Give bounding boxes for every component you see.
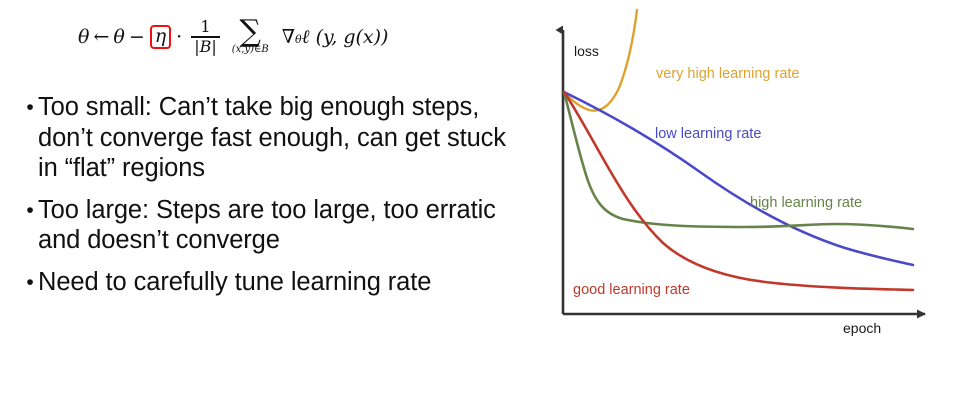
learning-rate-loss-curves-svg: loss epoch very high learning rate low l…: [545, 0, 972, 411]
series-label-low-learning-rate: low learning rate: [655, 126, 761, 142]
series-line-low-learning-rate: [564, 92, 913, 265]
bullet-text: Too large: Steps are too large, too erra…: [38, 195, 532, 256]
series-label-good-learning-rate: good learning rate: [573, 282, 690, 298]
series-label-high-learning-rate: high learning rate: [750, 195, 862, 211]
fraction-denominator: |B|: [191, 39, 220, 56]
x-axis-label: epoch: [843, 320, 881, 336]
learning-rate-chart: loss epoch very high learning rate low l…: [545, 0, 972, 411]
series-line-good-learning-rate: [564, 92, 913, 290]
bullet-list: • Too small: Can’t take big enough steps…: [22, 92, 532, 309]
formula-theta-lhs: θ: [78, 26, 89, 48]
formula-eta-highlighted: η: [150, 25, 171, 50]
formula-minus-sign: −: [129, 26, 145, 48]
y-axis-label: loss: [574, 43, 599, 59]
nabla-subscript: θ: [295, 33, 302, 46]
slide-root: θ ← θ − η · 1 |B| ∑ (x,y)∈B ∇θℓ (y, g(x)…: [0, 0, 972, 411]
nabla-icon: ∇: [282, 26, 295, 48]
bullet-text: Too small: Can’t take big enough steps, …: [38, 92, 532, 184]
list-item: • Too small: Can’t take big enough steps…: [22, 92, 532, 184]
bullet-marker-icon: •: [22, 268, 38, 298]
loss-symbol: ℓ: [302, 26, 310, 48]
fraction-numerator: 1: [197, 19, 213, 36]
loss-arguments: (y, g(x)): [316, 26, 389, 48]
formula-assign-arrow: ←: [93, 26, 109, 48]
left-content-column: θ ← θ − η · 1 |B| ∑ (x,y)∈B ∇θℓ (y, g(x)…: [0, 0, 545, 411]
bullet-marker-icon: •: [22, 93, 38, 123]
sigma-subscript: (x,y)∈B: [232, 45, 269, 55]
list-item: • Need to carefully tune learning rate: [22, 267, 532, 298]
formula-dot-operator: ·: [176, 26, 182, 48]
formula-theta-rhs: θ: [113, 26, 124, 48]
formula-gradient-term: ∇θℓ (y, g(x)): [282, 26, 389, 49]
formula-summation: ∑ (x,y)∈B: [232, 19, 269, 56]
sgd-update-formula: θ ← θ − η · 1 |B| ∑ (x,y)∈B ∇θℓ (y, g(x)…: [78, 10, 388, 64]
formula-batch-fraction: 1 |B|: [191, 19, 220, 56]
bullet-marker-icon: •: [22, 196, 38, 226]
list-item: • Too large: Steps are too large, too er…: [22, 195, 532, 256]
sigma-icon: ∑: [240, 19, 261, 45]
series-line-very-high-learning-rate: [564, 10, 637, 111]
bullet-text: Need to carefully tune learning rate: [38, 267, 532, 298]
series-label-very-high-learning-rate: very high learning rate: [656, 66, 799, 82]
